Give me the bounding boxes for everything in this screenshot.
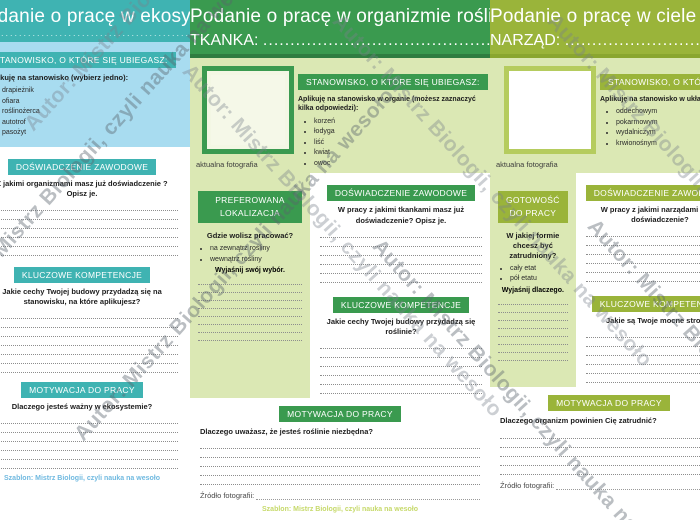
right-title: Podanie o pracę w ciele człowieka: [490, 6, 700, 28]
mid-location-note: Wyjaśnij swój wybór.: [198, 267, 302, 274]
right-experience-chip-wrap: DOŚWIADCZENIE ZAWODOWE: [586, 183, 700, 201]
write-line[interactable]: [320, 349, 482, 358]
left-position-options: drapieżnik ofiara roślinożerca autotrof …: [2, 86, 178, 139]
right-readiness-note: Wyjaśnij dlaczego.: [498, 287, 568, 294]
write-line[interactable]: [320, 238, 482, 247]
right-motivation-section: MOTYWACJA DO PRACY Dlaczego organizm pow…: [490, 387, 700, 489]
right-motivation-question: Dlaczego organizm powinien Cię zatrudnić…: [500, 416, 700, 426]
left-position-chip: STANOWISKO, O KTÓRE SIĘ UBIEGASZ:: [0, 52, 176, 68]
right-skills-chip: KLUCZOWE KOMPETENCJE: [592, 296, 700, 312]
option-item[interactable]: korzeń: [314, 117, 488, 128]
write-line[interactable]: [200, 449, 480, 458]
option-item[interactable]: na zewnątrz rośliny: [210, 244, 302, 255]
left-header: Podanie o pracę w ekosystemie: [0, 0, 190, 30]
option-item[interactable]: oddechowym: [616, 107, 700, 118]
mid-photo-source-label: Źródło fotografii:: [200, 491, 254, 500]
mid-header: Podanie o pracę w organizmie rośliny TKA…: [190, 0, 490, 54]
mid-experience-chip-wrap: DOŚWIADCZENIE ZAWODOWE: [320, 183, 482, 201]
write-line[interactable]: [498, 313, 568, 321]
mid-location-chip-wrap: PREFEROWANA LOKALIZACJA: [198, 191, 302, 223]
mid-photo-strip: aktualna fotografia STANOWISKO, O KTÓRE …: [190, 58, 490, 173]
write-line[interactable]: [0, 337, 178, 346]
mid-motivation-chip-wrap: MOTYWACJA DO PRACY: [200, 404, 480, 422]
left-skills-chip-wrap: KLUCZOWE KOMPETENCJE: [0, 265, 178, 283]
mid-experience-chip: DOŚWIADCZENIE ZAWODOWE: [327, 185, 475, 201]
write-line[interactable]: [198, 317, 302, 325]
mid-photo-frame[interactable]: [202, 66, 294, 154]
left-skills-lines[interactable]: [0, 310, 178, 373]
write-line[interactable]: [498, 337, 568, 345]
right-readiness-chip: GOTOWOŚĆ DO PRACY: [498, 191, 568, 223]
write-line[interactable]: [198, 333, 302, 341]
write-line[interactable]: [320, 265, 482, 274]
write-line[interactable]: [586, 338, 700, 347]
write-line[interactable]: [498, 353, 568, 361]
write-line[interactable]: [0, 202, 178, 211]
mid-motivation-section: MOTYWACJA DO PRACY Dlaczego uważasz, że …: [190, 398, 490, 513]
right-motivation-lines[interactable]: [500, 430, 700, 475]
write-line[interactable]: [556, 481, 700, 490]
write-line[interactable]: [198, 277, 302, 285]
mid-location-lines[interactable]: [198, 277, 302, 341]
write-line[interactable]: [586, 264, 700, 273]
mid-photo-source[interactable]: Źródło fotografii:: [200, 491, 480, 500]
write-line[interactable]: [200, 467, 480, 476]
mid-experience-lines[interactable]: [320, 229, 482, 283]
write-line[interactable]: [0, 310, 178, 319]
option-item[interactable]: cały etat: [510, 264, 568, 275]
right-readiness-lines[interactable]: [498, 297, 568, 361]
right-position-options: oddechowym pokarmowym wydalniczym krwion…: [616, 107, 700, 149]
option-item[interactable]: pokarmowym: [616, 118, 700, 129]
mid-experience-question: W pracy z jakimi tkankami masz już doświ…: [320, 205, 482, 225]
left-footer: Szablon: Mistrz Biologii, czyli nauka na…: [0, 475, 178, 482]
right-position-section: STANOWISKO, O KTÓRE SIĘ UBIEGASZ: Apliku…: [596, 66, 700, 169]
option-item[interactable]: owoc: [314, 159, 488, 170]
mid-title: Podanie o pracę w organizmie rośliny: [190, 6, 490, 28]
left-position-question: Aplikuję na stanowisko (wybierz jedno):: [0, 73, 178, 83]
panel-ecosystem: Podanie o pracę w ekosystemie ..........…: [0, 0, 190, 520]
left-experience-lines[interactable]: [0, 202, 178, 256]
right-photo-frame[interactable]: [504, 66, 596, 154]
write-line[interactable]: [586, 255, 700, 264]
write-line[interactable]: [0, 346, 178, 355]
option-item[interactable]: pasożyt: [2, 128, 178, 139]
mid-field-row: TKANKA: ................................…: [190, 32, 490, 50]
right-photo-source[interactable]: Źródło fotografii:: [500, 481, 700, 490]
write-line[interactable]: [498, 329, 568, 337]
write-line[interactable]: [0, 355, 178, 364]
left-experience-chip-wrap: DOŚWIADCZENIE ZAWODOWE: [0, 157, 178, 175]
write-line[interactable]: [198, 325, 302, 333]
mid-motivation-lines[interactable]: [200, 440, 480, 485]
option-item[interactable]: autotrof: [2, 118, 178, 129]
right-position-question: Aplikuję na stanowisko w układzie:: [600, 95, 700, 104]
write-line[interactable]: [320, 229, 482, 238]
right-photo-source-label: Źródło fotografii:: [500, 481, 554, 490]
write-line[interactable]: [500, 430, 700, 439]
right-position-chip: STANOWISKO, O KTÓRE SIĘ UBIEGASZ:: [600, 74, 700, 90]
right-skills-question: Jakie są Twoje mocne strony?: [586, 316, 700, 326]
mid-field-dots[interactable]: ........................................…: [263, 32, 490, 49]
write-line[interactable]: [500, 457, 700, 466]
mid-location-question: Gdzie wolisz pracować?: [198, 231, 302, 241]
right-field-row: NARZĄD: ................................…: [490, 32, 700, 50]
left-experience-chip: DOŚWIADCZENIE ZAWODOWE: [8, 159, 156, 175]
write-line[interactable]: [320, 358, 482, 367]
right-right-column: DOŚWIADCZENIE ZAWODOWE W pracy z jakimi …: [576, 173, 700, 387]
option-item[interactable]: liść: [314, 138, 488, 149]
mid-skills-lines[interactable]: [320, 340, 482, 394]
write-line[interactable]: [586, 365, 700, 374]
right-motivation-chip: MOTYWACJA DO PRACY: [548, 395, 670, 411]
write-line[interactable]: [200, 476, 480, 485]
write-line[interactable]: [320, 256, 482, 265]
right-experience-question: W pracy z jakimi narządami masz doświadc…: [586, 205, 700, 225]
left-motivation-chip-wrap: MOTYWACJA DO PRACY: [0, 380, 178, 398]
left-skills-chip: KLUCZOWE KOMPETENCJE: [14, 267, 150, 283]
write-line[interactable]: [586, 273, 700, 282]
write-line[interactable]: [200, 458, 480, 467]
right-readiness-options: cały etat pół etatu: [510, 264, 568, 285]
write-line[interactable]: [198, 309, 302, 317]
right-skills-lines[interactable]: [586, 329, 700, 383]
write-line[interactable]: [0, 319, 178, 328]
left-motivation-chip: MOTYWACJA DO PRACY: [21, 382, 143, 398]
write-line[interactable]: [586, 228, 700, 237]
right-header: Podanie o pracę w ciele człowieka NARZĄD…: [490, 0, 700, 54]
write-line[interactable]: [0, 211, 178, 220]
mid-skills-chip-wrap: KLUCZOWE KOMPETENCJE: [320, 295, 482, 313]
left-motivation-lines[interactable]: [0, 415, 178, 469]
option-item[interactable]: roślinożerca: [2, 107, 178, 118]
write-line[interactable]: [198, 301, 302, 309]
write-line[interactable]: [0, 451, 178, 460]
panel-plant: Podanie o pracę w organizmie rośliny TKA…: [190, 0, 490, 520]
write-line[interactable]: [498, 345, 568, 353]
left-skills-question: Jakie cechy Twojej budowy przydadzą się …: [0, 287, 178, 307]
left-experience-question: Z jakimi organizmami masz już doświadcze…: [0, 179, 178, 199]
mid-photo-caption: aktualna fotografia: [190, 160, 294, 169]
mid-motivation-question: Dlaczego uważasz, że jesteś roślinie nie…: [200, 427, 480, 437]
write-line[interactable]: [320, 385, 482, 394]
mid-location-chip: PREFEROWANA LOKALIZACJA: [198, 191, 302, 223]
mid-motivation-chip: MOTYWACJA DO PRACY: [279, 406, 401, 422]
right-photo-caption: aktualna fotografia: [490, 160, 596, 169]
write-line[interactable]: [0, 229, 178, 238]
mid-position-section: STANOWISKO, O KTÓRE SIĘ UBIEGASZ: Apliku…: [294, 66, 490, 169]
photo-placeholder-icon: [513, 75, 587, 145]
right-photo-strip: aktualna fotografia STANOWISKO, O KTÓRE …: [490, 58, 700, 173]
write-line[interactable]: [586, 246, 700, 255]
mid-footer: Szablon: Mistrz Biologii, czyli nauka na…: [200, 506, 480, 513]
write-line[interactable]: [500, 466, 700, 475]
screenshot-canvas: Podanie o pracę w ekosystemie ..........…: [0, 0, 700, 520]
write-line[interactable]: [586, 356, 700, 365]
write-line[interactable]: [256, 491, 480, 500]
left-title: Podanie o pracę w ekosystemie: [0, 6, 190, 28]
option-item[interactable]: pół etatu: [510, 274, 568, 285]
left-header-dots: ........................................…: [0, 30, 190, 42]
option-item[interactable]: łodyga: [314, 127, 488, 138]
write-line[interactable]: [586, 329, 700, 338]
right-field-dots[interactable]: ....................................: [565, 32, 700, 49]
option-item[interactable]: krwionośnym: [616, 139, 700, 150]
panel-human: Podanie o pracę w ciele człowieka NARZĄD…: [490, 0, 700, 520]
mid-location-options: na zewnątrz rośliny wewnątrz rośliny: [210, 244, 302, 265]
left-motivation-question: Dlaczego jesteś ważny w ekosystemie?: [0, 402, 178, 412]
write-line[interactable]: [0, 328, 178, 337]
mid-field-label: TKANKA:: [190, 32, 258, 49]
write-line[interactable]: [320, 367, 482, 376]
right-photo-block: aktualna fotografia: [490, 66, 596, 169]
write-line[interactable]: [586, 374, 700, 383]
right-readiness-section: GOTOWOŚĆ DO PRACY W jakiej formie chcesz…: [490, 173, 576, 387]
write-line[interactable]: [0, 415, 178, 424]
option-item[interactable]: ofiara: [2, 97, 178, 108]
left-position-section: STANOWISKO, O KTÓRE SIĘ UBIEGASZ: Apliku…: [0, 42, 190, 147]
mid-photo-block: aktualna fotografia: [190, 66, 294, 169]
mid-skills-question: Jakie cechy Twojej budowy przydadzą się …: [320, 317, 482, 337]
write-line[interactable]: [320, 247, 482, 256]
right-readiness-question: W jakiej formie chcesz być zatrudniony?: [498, 231, 568, 261]
right-experience-lines[interactable]: [586, 228, 700, 282]
right-experience-chip: DOŚWIADCZENIE ZAWODOWE: [586, 185, 700, 201]
mid-skills-chip: KLUCZOWE KOMPETENCJE: [333, 297, 469, 313]
right-field-label: NARZĄD:: [490, 32, 560, 49]
write-line[interactable]: [498, 305, 568, 313]
mid-position-chip: STANOWISKO, O KTÓRE SIĘ UBIEGASZ:: [298, 74, 488, 90]
mid-position-options: korzeń łodyga liść kwiat owoc: [314, 117, 488, 170]
mid-main-columns: PREFEROWANA LOKALIZACJA Gdzie wolisz pra…: [190, 173, 490, 398]
right-main-columns: GOTOWOŚĆ DO PRACY W jakiej formie chcesz…: [490, 173, 700, 387]
write-line[interactable]: [500, 448, 700, 457]
right-skills-chip-wrap: KLUCZOWE KOMPETENCJE: [586, 294, 700, 312]
write-line[interactable]: [0, 247, 178, 256]
right-motivation-chip-wrap: MOTYWACJA DO PRACY: [500, 393, 700, 411]
write-line[interactable]: [200, 440, 480, 449]
write-line[interactable]: [586, 347, 700, 356]
write-line[interactable]: [0, 220, 178, 229]
write-line[interactable]: [0, 238, 178, 247]
write-line[interactable]: [198, 293, 302, 301]
option-item[interactable]: drapieżnik: [2, 86, 178, 97]
mid-position-question: Aplikuję na stanowisko w organie (możesz…: [298, 95, 488, 114]
write-line[interactable]: [320, 340, 482, 349]
write-line[interactable]: [500, 439, 700, 448]
write-line[interactable]: [0, 433, 178, 442]
write-line[interactable]: [320, 376, 482, 385]
write-line[interactable]: [498, 297, 568, 305]
write-line[interactable]: [198, 285, 302, 293]
left-white-body: DOŚWIADCZENIE ZAWODOWE Z jakimi organizm…: [0, 147, 190, 487]
write-line[interactable]: [320, 274, 482, 283]
write-line[interactable]: [0, 442, 178, 451]
photo-placeholder-icon: [211, 75, 285, 145]
option-item[interactable]: kwiat: [314, 148, 488, 159]
write-line[interactable]: [586, 237, 700, 246]
write-line[interactable]: [0, 460, 178, 469]
right-readiness-chip-wrap: GOTOWOŚĆ DO PRACY: [498, 191, 568, 223]
mid-right-column: DOŚWIADCZENIE ZAWODOWE W pracy z jakimi …: [310, 173, 490, 398]
option-item[interactable]: wydalniczym: [616, 128, 700, 139]
write-line[interactable]: [0, 424, 178, 433]
write-line[interactable]: [498, 321, 568, 329]
mid-location-section: PREFEROWANA LOKALIZACJA Gdzie wolisz pra…: [190, 173, 310, 398]
option-item[interactable]: wewnątrz rośliny: [210, 255, 302, 266]
write-line[interactable]: [0, 364, 178, 373]
